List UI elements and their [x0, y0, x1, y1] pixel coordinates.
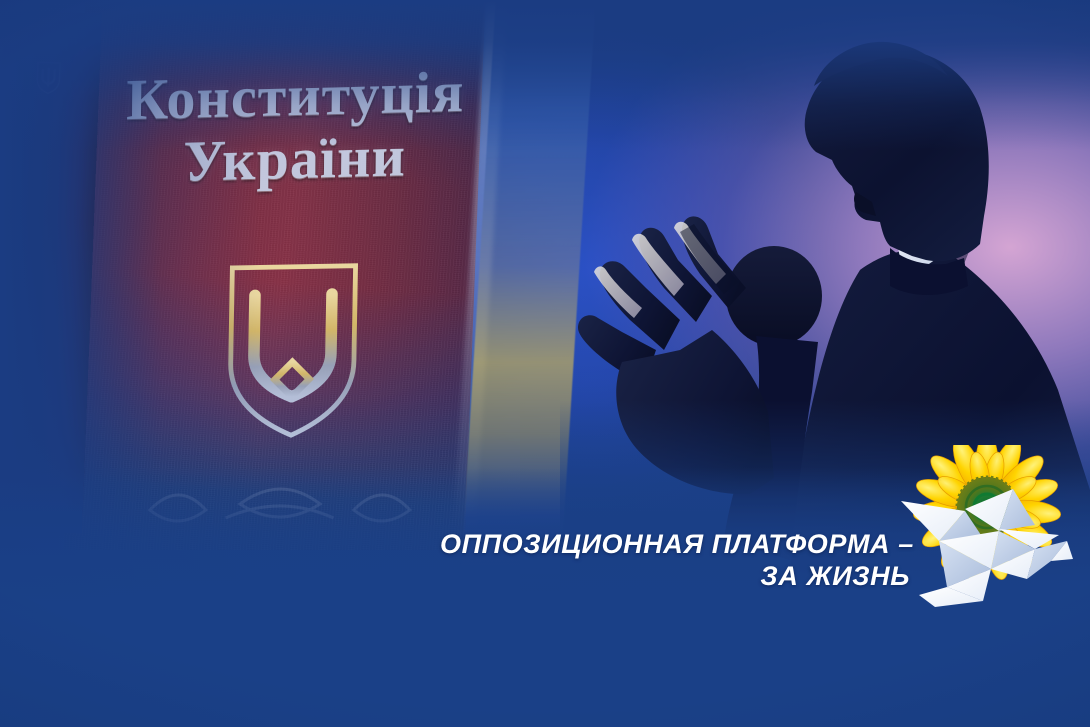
party-name-line-2: ЗА ЖИЗНЬ — [440, 561, 910, 593]
party-name-line-1: ОППОЗИЦИОННАЯ ПЛАТФОРМА – — [440, 529, 910, 561]
campaign-banner: Конституція України Конституція України — [0, 0, 1090, 727]
party-logo-lockup: ОППОЗИЦИОННАЯ ПЛАТФОРМА – ЗА ЖИЗНЬ — [440, 445, 1090, 625]
background-top-fade — [0, 0, 1090, 150]
party-emblem — [895, 445, 1090, 625]
party-name-text: ОППОЗИЦИОННАЯ ПЛАТФОРМА – ЗА ЖИЗНЬ — [440, 529, 910, 593]
